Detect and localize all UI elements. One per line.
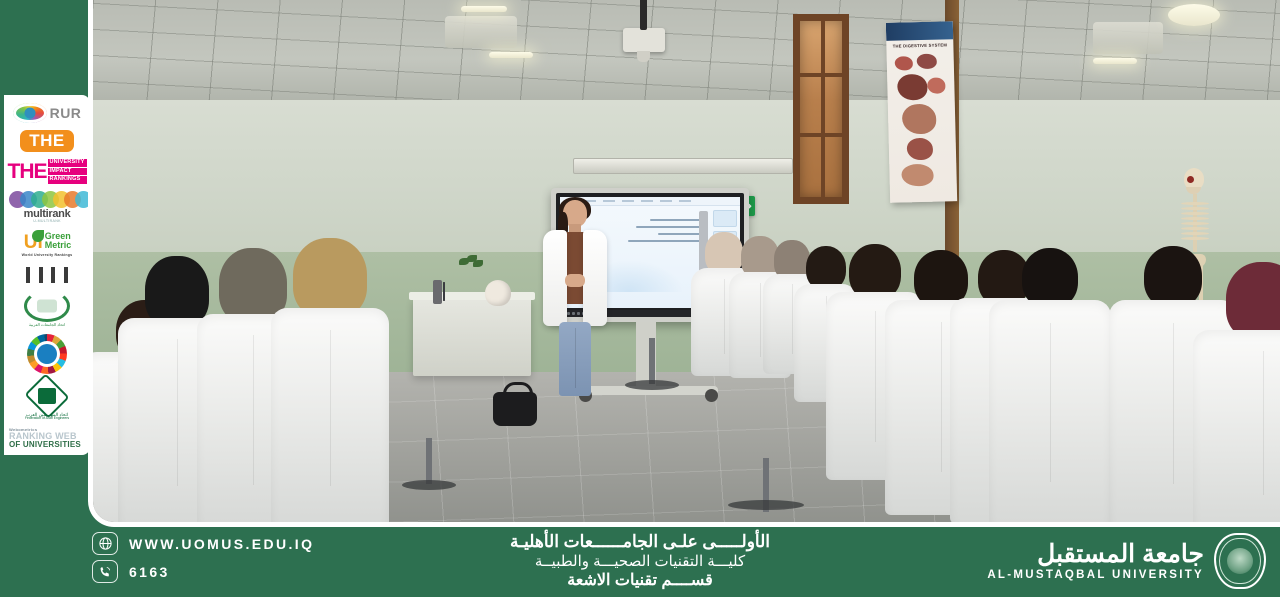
logo-federation-arab-engineers: اتحاد المهندسين العرب Federation of Arab… (9, 381, 85, 421)
greenmetric-metric: Metric (45, 241, 72, 250)
university-crest-logo (1214, 533, 1266, 589)
water-bottle (433, 280, 442, 304)
logo-rur: RUR (9, 103, 85, 123)
logo-ui-greenmetric: UI Green Metric World University Ranking… (9, 230, 85, 258)
event-banner: RUR THE THE UNIVERSITY IMPACT RANKINGS (0, 0, 1280, 597)
lecture-hall-photo: THE DIGESTIVE SYSTEM EXIT مخرج ➜ (88, 0, 1280, 527)
ceiling-light-panel-2 (1093, 22, 1163, 54)
accreditation-logos-panel: RUR THE THE UNIVERSITY IMPACT RANKINGS (4, 95, 90, 455)
ceiling-light-4 (1093, 58, 1137, 64)
display-caster-right (705, 389, 718, 402)
ceiling-light-2 (489, 52, 533, 58)
handbag (493, 392, 537, 426)
window (793, 14, 849, 204)
globe-www-icon (92, 532, 118, 555)
side-desk (413, 298, 531, 376)
photo-scene: THE DIGESTIVE SYSTEM EXIT مخرج ➜ (93, 0, 1280, 522)
the-impact-line1: UNIVERSITY (48, 159, 87, 167)
the-impact-line3: RANKINGS (48, 176, 87, 184)
wreath-icon (24, 290, 70, 322)
brand-text: جامعة المستقبل AL-MUSTAQBAL UNIVERSITY (987, 541, 1204, 581)
audience-person-12 (998, 248, 1102, 522)
digestive-system-poster: THE DIGESTIVE SYSTEM (886, 21, 957, 203)
greenmetric-sub: World University Rankings (22, 254, 73, 258)
logo-sdg (9, 334, 85, 374)
phone-label[interactable]: 6163 (129, 564, 170, 580)
anatomy-skull-model (485, 280, 511, 306)
footer: WWW.UOMUS.EDU.IQ 6163 الأولـــــى علـى ا… (0, 527, 1280, 597)
laptop (443, 283, 473, 303)
whiteboard-rail (573, 158, 793, 174)
the-impact-line2: IMPACT (48, 168, 87, 176)
website-label[interactable]: WWW.UOMUS.EDU.IQ (129, 536, 314, 552)
rur-eye-icon (13, 103, 47, 123)
presenter (545, 200, 607, 400)
sidebar: RUR THE THE UNIVERSITY IMPACT RANKINGS (0, 0, 90, 530)
contact-block: WWW.UOMUS.EDU.IQ 6163 (92, 532, 314, 588)
ceiling (93, 0, 1280, 108)
brand-english: AL-MUSTAQBAL UNIVERSITY (987, 569, 1204, 581)
multirank-label: multirank (24, 209, 71, 220)
phone-icon (92, 560, 118, 583)
ceiling-projector (623, 28, 665, 52)
university-brand: جامعة المستقبل AL-MUSTAQBAL UNIVERSITY (987, 533, 1266, 589)
poster-title: THE DIGESTIVE SYSTEM (886, 39, 953, 51)
ceiling-light-1 (461, 6, 507, 12)
ceiling-light-panel-1 (445, 16, 517, 48)
logo-webometrics: Webometrics RANKING WEB OF UNIVERSITIES (9, 428, 85, 449)
federation-english: Federation of Arab Engineers (25, 417, 69, 420)
the-label: THE (20, 130, 74, 152)
ceiling-light-3 (1168, 4, 1220, 26)
brand-arabic: جامعة المستقبل (987, 541, 1204, 567)
logo-times-higher-education: THE (9, 130, 85, 152)
greenmetric-leaf-icon: UI (23, 230, 43, 252)
multirank-sub: U-MULTIRANK (33, 220, 61, 224)
footer-arabic-line-2: كليـــة التقنيات الصحيـــة والطبيــة (420, 553, 860, 571)
footer-arabic-line-1: الأولـــــى علـى الجامــــــعات الأهليـة (420, 532, 860, 553)
logo-temple-mark (9, 265, 85, 283)
webometrics-line2: OF UNIVERSITIES (9, 441, 81, 449)
temple-columns-icon (23, 265, 71, 283)
website-row[interactable]: WWW.UOMUS.EDU.IQ (92, 532, 314, 555)
multirank-circles-icon (9, 191, 86, 208)
phone-row[interactable]: 6163 (92, 560, 314, 583)
arab-universities-sub: اتحاد الجامعات العربية (29, 323, 65, 327)
department-info: الأولـــــى علـى الجامــــــعات الأهليـة… (420, 532, 860, 591)
audience-person-4 (278, 238, 382, 522)
sdg-wheel-icon (27, 334, 67, 374)
rur-label: RUR (50, 106, 82, 120)
logo-the-impact-rankings: THE UNIVERSITY IMPACT RANKINGS (9, 159, 85, 184)
audience-person-14 (1203, 262, 1280, 522)
potted-plant (459, 258, 483, 276)
logo-arab-universities: اتحاد الجامعات العربية (9, 290, 85, 327)
logo-multirank: multirank U-MULTIRANK (9, 191, 85, 224)
footer-arabic-line-3: قســــم تقنيات الاشعة (420, 571, 860, 591)
the-impact-label: THE (8, 161, 47, 182)
